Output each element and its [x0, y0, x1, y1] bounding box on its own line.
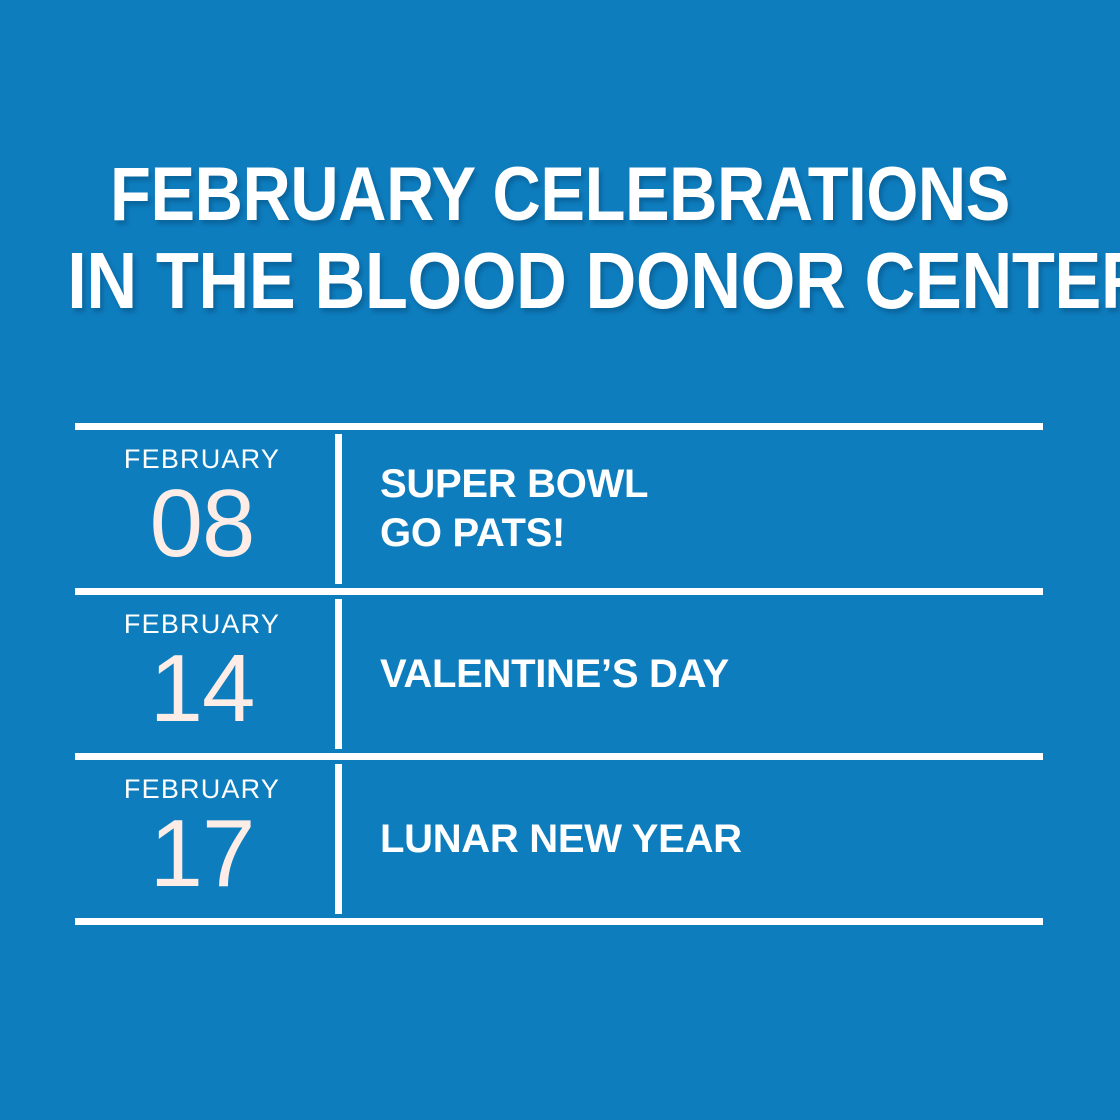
event-cell: VALENTINE’S DAY: [335, 595, 1043, 753]
table-row: FEBRUARY 17 LUNAR NEW YEAR: [75, 760, 1043, 918]
column-divider: [335, 599, 342, 749]
poster-canvas: FEBRUARY CELEBRATIONS IN THE BLOOD DONOR…: [0, 0, 1120, 1120]
day-number: 17: [150, 805, 255, 903]
table-rule-2: [75, 753, 1043, 760]
event-cell: LUNAR NEW YEAR: [335, 760, 1043, 918]
month-label: FEBRUARY: [124, 446, 280, 473]
column-divider: [335, 764, 342, 914]
date-cell: FEBRUARY 14: [75, 595, 335, 753]
event-title: SUPER BOWL GO PATS!: [380, 460, 648, 558]
table-row: FEBRUARY 08 SUPER BOWL GO PATS!: [75, 430, 1043, 588]
event-cell: SUPER BOWL GO PATS!: [335, 430, 1043, 588]
table-rule-top: [75, 423, 1043, 430]
column-divider: [335, 434, 342, 584]
table-row: FEBRUARY 14 VALENTINE’S DAY: [75, 595, 1043, 753]
day-number: 14: [150, 640, 255, 738]
event-title-line-1: SUPER BOWL: [380, 462, 648, 506]
table-rule-1: [75, 588, 1043, 595]
page-title: FEBRUARY CELEBRATIONS IN THE BLOOD DONOR…: [0, 152, 1120, 324]
event-title-line-1: LUNAR NEW YEAR: [380, 817, 742, 861]
event-title: VALENTINE’S DAY: [380, 650, 729, 699]
event-title-line-2: GO PATS!: [380, 509, 648, 558]
date-cell: FEBRUARY 17: [75, 760, 335, 918]
page-title-line-1: FEBRUARY CELEBRATIONS: [67, 152, 1053, 238]
page-title-line-2: IN THE BLOOD DONOR CENTER: [67, 238, 1053, 324]
date-cell: FEBRUARY 08: [75, 430, 335, 588]
month-label: FEBRUARY: [124, 776, 280, 803]
day-number: 08: [150, 475, 255, 573]
month-label: FEBRUARY: [124, 611, 280, 638]
event-title-line-1: VALENTINE’S DAY: [380, 652, 729, 696]
schedule-table: FEBRUARY 08 SUPER BOWL GO PATS! FEBRUARY…: [75, 423, 1043, 925]
table-rule-bottom: [75, 918, 1043, 925]
event-title: LUNAR NEW YEAR: [380, 815, 742, 864]
